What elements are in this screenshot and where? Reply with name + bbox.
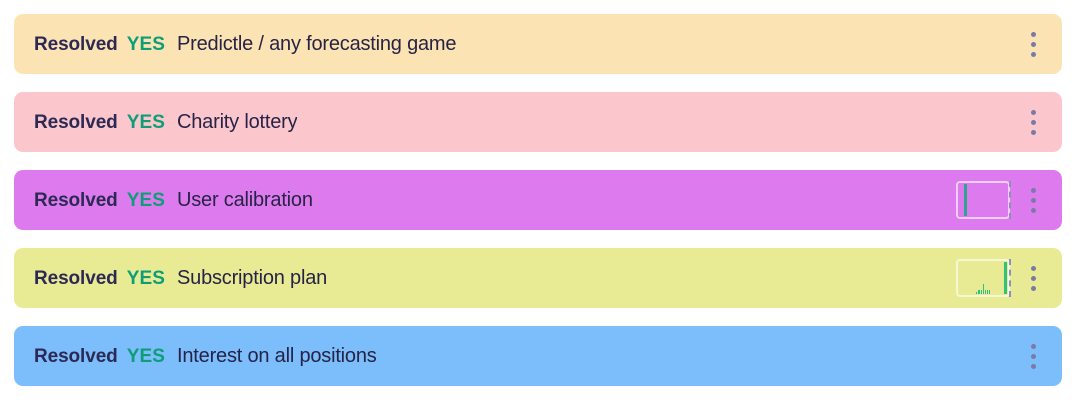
market-row[interactable]: ResolvedYESSubscription plan [14,248,1062,308]
market-list: ResolvedYESPredictle / any forecasting g… [0,0,1078,400]
status-badge: Resolved [34,190,118,212]
market-row-actions [1020,326,1052,386]
market-row-actions [956,248,1052,308]
mini-probability-chart[interactable] [956,181,1010,219]
kebab-menu-icon[interactable] [1020,257,1046,299]
kebab-dot [1031,266,1036,271]
market-row[interactable]: ResolvedYESPredictle / any forecasting g… [14,14,1062,74]
market-title[interactable]: Charity lottery [177,111,297,134]
chart-bar [989,290,990,294]
market-row[interactable]: ResolvedYESUser calibration [14,170,1062,230]
kebab-dot [1031,32,1036,37]
market-row-labels: ResolvedYESInterest on all positions [34,345,1020,368]
resolution-outcome: YES [127,268,165,290]
status-badge: Resolved [34,34,118,56]
chart-current-line [1004,262,1007,294]
resolution-outcome: YES [127,34,165,56]
market-title[interactable]: User calibration [177,189,313,212]
market-title[interactable]: Predictle / any forecasting game [177,33,456,56]
market-row[interactable]: ResolvedYESInterest on all positions [14,326,1062,386]
kebab-dot [1031,52,1036,57]
market-row-labels: ResolvedYESCharity lottery [34,111,1020,134]
kebab-dot [1031,276,1036,281]
chart-bar [976,292,977,294]
kebab-dot [1031,120,1036,125]
market-row-labels: ResolvedYESSubscription plan [34,267,956,290]
mini-probability-chart[interactable] [956,259,1010,297]
kebab-dot [1031,344,1036,349]
chart-bar [978,290,979,294]
chart-bar [981,290,982,294]
chart-resolution-marker [1009,181,1011,219]
chart-bar [983,284,984,294]
chart-resolution-marker [1009,259,1011,297]
kebab-dot [1031,130,1036,135]
kebab-dot [1031,110,1036,115]
chart-bar [987,290,988,294]
market-row-actions [1020,92,1052,152]
chart-current-line [964,184,967,216]
market-row-labels: ResolvedYESPredictle / any forecasting g… [34,33,1020,56]
kebab-dot [1031,354,1036,359]
resolution-outcome: YES [127,190,165,212]
chart-bar [985,290,986,294]
kebab-menu-icon[interactable] [1020,101,1046,143]
market-row[interactable]: ResolvedYESCharity lottery [14,92,1062,152]
market-title[interactable]: Subscription plan [177,267,327,290]
status-badge: Resolved [34,112,118,134]
kebab-menu-icon[interactable] [1020,23,1046,65]
resolution-outcome: YES [127,346,165,368]
market-row-labels: ResolvedYESUser calibration [34,189,956,212]
market-title[interactable]: Interest on all positions [177,345,377,368]
kebab-dot [1031,364,1036,369]
kebab-menu-icon[interactable] [1020,179,1046,221]
resolution-outcome: YES [127,112,165,134]
chart-histogram [964,284,1000,294]
kebab-dot [1031,198,1036,203]
kebab-dot [1031,188,1036,193]
kebab-dot [1031,208,1036,213]
status-badge: Resolved [34,346,118,368]
market-row-actions [956,170,1052,230]
kebab-dot [1031,286,1036,291]
kebab-dot [1031,42,1036,47]
status-badge: Resolved [34,268,118,290]
market-row-actions [1020,14,1052,74]
kebab-menu-icon[interactable] [1020,335,1046,377]
